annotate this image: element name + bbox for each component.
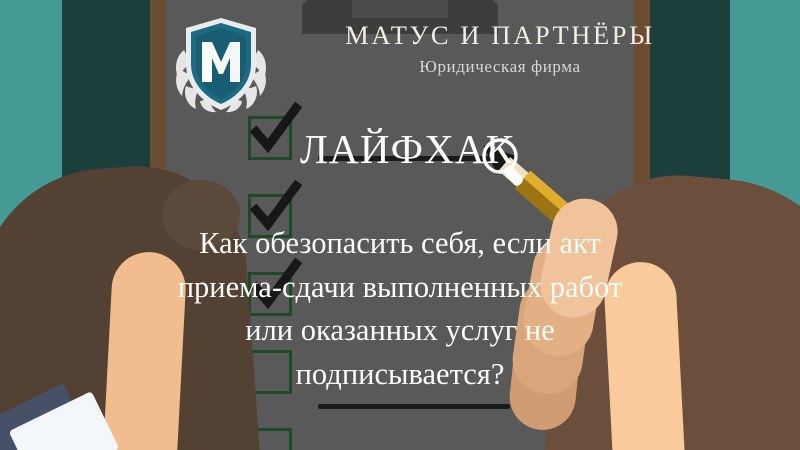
brand-name: МАТУС И ПАРТНЁРЫ: [300, 22, 700, 50]
body-copy: Как обезопасить себя, если актприема-сда…: [64, 222, 736, 396]
body-copy-line-1: Как обезопасить себя, если акт: [64, 222, 736, 266]
clipboard-clip-inner: [352, 0, 448, 18]
body-copy-line-3: или оказанных услуг не: [64, 309, 736, 353]
body-copy-line-2: приема-сдачи выполненных работ: [64, 266, 736, 310]
brand-tagline: Юридическая фирма: [300, 57, 700, 77]
shield-laurel-m-logo: [168, 16, 274, 114]
brand-block: МАТУС И ПАРТНЁРЫ Юридическая фирма: [300, 22, 700, 77]
magnifying-glass-icon: [478, 136, 532, 188]
body-copy-line-4: подписывается?: [64, 353, 736, 397]
checkbox-1[interactable]: [248, 116, 292, 160]
poster-canvas: МАТУС И ПАРТНЁРЫ Юридическая фирма ЛАЙФХ…: [0, 0, 800, 450]
